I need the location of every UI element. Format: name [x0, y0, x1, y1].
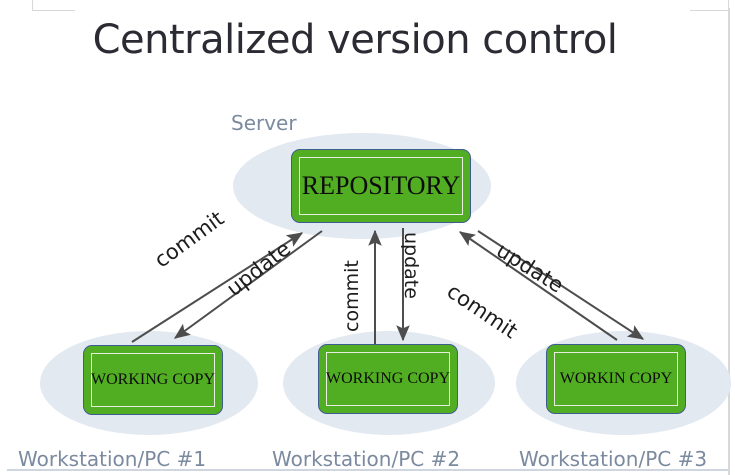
workstation-1-node[interactable]: WORKING COPY: [83, 345, 223, 415]
workstation-1-node-label: WORKING COPY: [91, 372, 215, 388]
repository-node[interactable]: REPOSITORY: [291, 149, 471, 223]
workstation-2-node-label: WORKING COPY: [326, 371, 450, 387]
diagram-canvas: Centralized version control commit updat…: [0, 0, 735, 475]
workstation-3-node[interactable]: WORKIN COPY: [546, 344, 686, 414]
arrow-label-update-2: update: [400, 232, 422, 299]
workstation-3-caption: Workstation/PC #3: [519, 447, 707, 471]
workstation-1-caption: Workstation/PC #1: [18, 447, 206, 471]
server-caption: Server: [231, 111, 297, 135]
workstation-2-caption: Workstation/PC #2: [272, 447, 460, 471]
repository-node-label: REPOSITORY: [302, 173, 460, 199]
workstation-2-node[interactable]: WORKING COPY: [318, 344, 458, 414]
arrow-label-commit-2: commit: [341, 260, 363, 332]
workstation-3-node-label: WORKIN COPY: [560, 371, 672, 387]
